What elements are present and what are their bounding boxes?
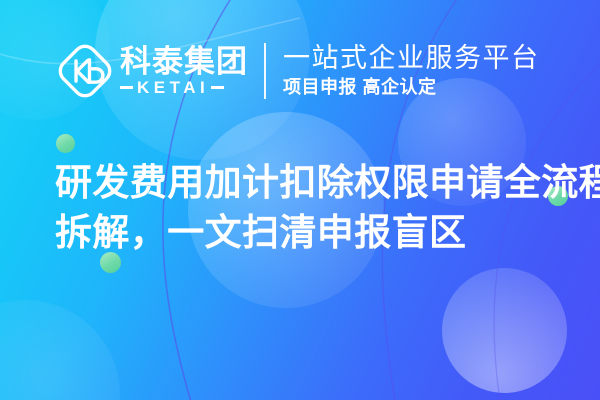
brand-name-cn: 科泰集团 bbox=[120, 46, 248, 79]
tagline-secondary: 项目申报 高企认定 bbox=[283, 76, 540, 99]
ketai-diamond-kp-logo-icon bbox=[57, 43, 113, 99]
accent-dot-green-left bbox=[56, 134, 75, 153]
dash-left-icon bbox=[120, 86, 133, 89]
headline: 研发费用加计扣除权限申请全流程 拆解，一文扫清申报盲区 bbox=[55, 158, 570, 258]
headline-line-1: 研发费用加计扣除权限申请全流程 bbox=[55, 158, 570, 208]
banner-header: 科泰集团 KETAI 一站式企业服务平台 项目申报 高企认定 bbox=[57, 38, 540, 104]
promo-banner: 科泰集团 KETAI 一站式企业服务平台 项目申报 高企认定 研发费用加计扣除权… bbox=[0, 0, 600, 400]
vertical-divider bbox=[264, 43, 266, 99]
brand-name-en: KETAI bbox=[137, 79, 209, 96]
tagline-primary: 一站式企业服务平台 bbox=[283, 43, 540, 73]
dash-right-icon bbox=[211, 86, 224, 89]
tagline-block: 一站式企业服务平台 项目申报 高企认定 bbox=[283, 43, 540, 100]
brand-name-en-row: KETAI bbox=[120, 79, 248, 96]
brand-wordmark: 科泰集团 KETAI bbox=[120, 46, 248, 97]
headline-line-2: 拆解，一文扫清申报盲区 bbox=[55, 208, 570, 258]
